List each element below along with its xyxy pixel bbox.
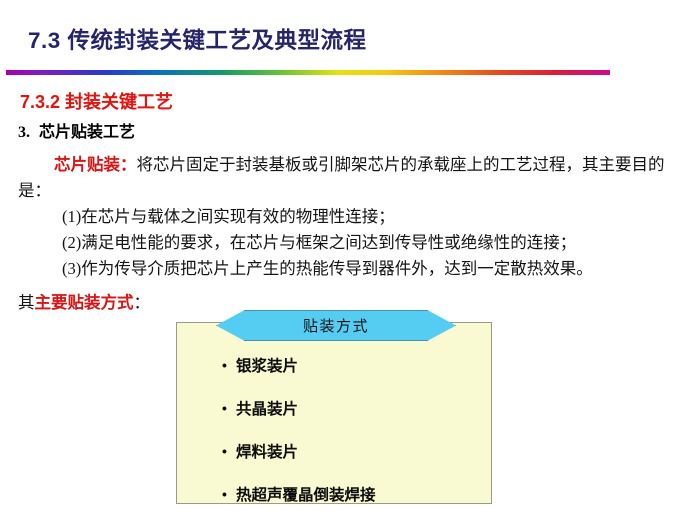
lead-suffix: ： <box>134 293 151 312</box>
diagram-item-list: •银浆装片 •共晶装片 •焊料装片 •热超声覆晶倒装焊接 <box>222 354 376 526</box>
mounting-methods-diagram: 贴装方式 •银浆装片 •共晶装片 •焊料装片 •热超声覆晶倒装焊接 <box>176 310 494 506</box>
topic-heading: 3.芯片贴装工艺 <box>18 118 135 142</box>
list-item: •热超声覆晶倒装焊接 <box>222 483 376 505</box>
subsection-title: 7.3.2 封装关键工艺 <box>20 88 173 114</box>
lead-prefix: 其 <box>18 293 35 312</box>
list-item-label: 银浆装片 <box>236 358 298 375</box>
diagram-banner-label: 贴装方式 <box>303 315 369 336</box>
bullet-icon: • <box>222 443 236 459</box>
list-item: •焊料装片 <box>222 440 376 462</box>
list-item: •共晶装片 <box>222 397 376 419</box>
list-item: (1)在芯片与载体之间实现有效的物理性连接； <box>18 204 670 230</box>
definition-paragraph: 芯片贴装：将芯片固定于封装基板或引脚架芯片的承载座上的工艺过程，其主要目的是： <box>18 152 670 204</box>
page-title: 7.3 传统封装关键工艺及典型流程 <box>28 23 367 55</box>
list-item: •银浆装片 <box>222 354 376 376</box>
list-item: (2)满足电性能的要求，在芯片与框架之间达到传导性或绝缘性的连接； <box>18 230 670 256</box>
lead-keyword: 主要贴装方式 <box>35 293 134 312</box>
bullet-icon: • <box>222 486 236 502</box>
rainbow-divider <box>6 70 610 75</box>
topic-number: 3. <box>18 124 30 141</box>
list-item-label: 热超声覆晶倒装焊接 <box>236 487 376 504</box>
body-content: 芯片贴装：将芯片固定于封装基板或引脚架芯片的承载座上的工艺过程，其主要目的是： … <box>18 152 670 282</box>
bullet-icon: • <box>222 400 236 416</box>
list-item-label: 焊料装片 <box>236 444 298 461</box>
list-item-label: 共晶装片 <box>236 401 298 418</box>
bullet-icon: • <box>222 357 236 373</box>
diagram-banner-hexagon: 贴装方式 <box>216 310 456 341</box>
list-item: (3)作为传导介质把芯片上产生的热能传导到器件外，达到一定散热效果。 <box>18 256 670 282</box>
definition-keyword: 芯片贴装： <box>54 155 137 174</box>
slide-root: { "slide": { "title": "7.3 传统封装关键工艺及典型流程… <box>0 0 682 525</box>
diagram-lead-in: 其主要贴装方式： <box>18 289 150 313</box>
topic-label: 芯片贴装工艺 <box>39 124 135 141</box>
